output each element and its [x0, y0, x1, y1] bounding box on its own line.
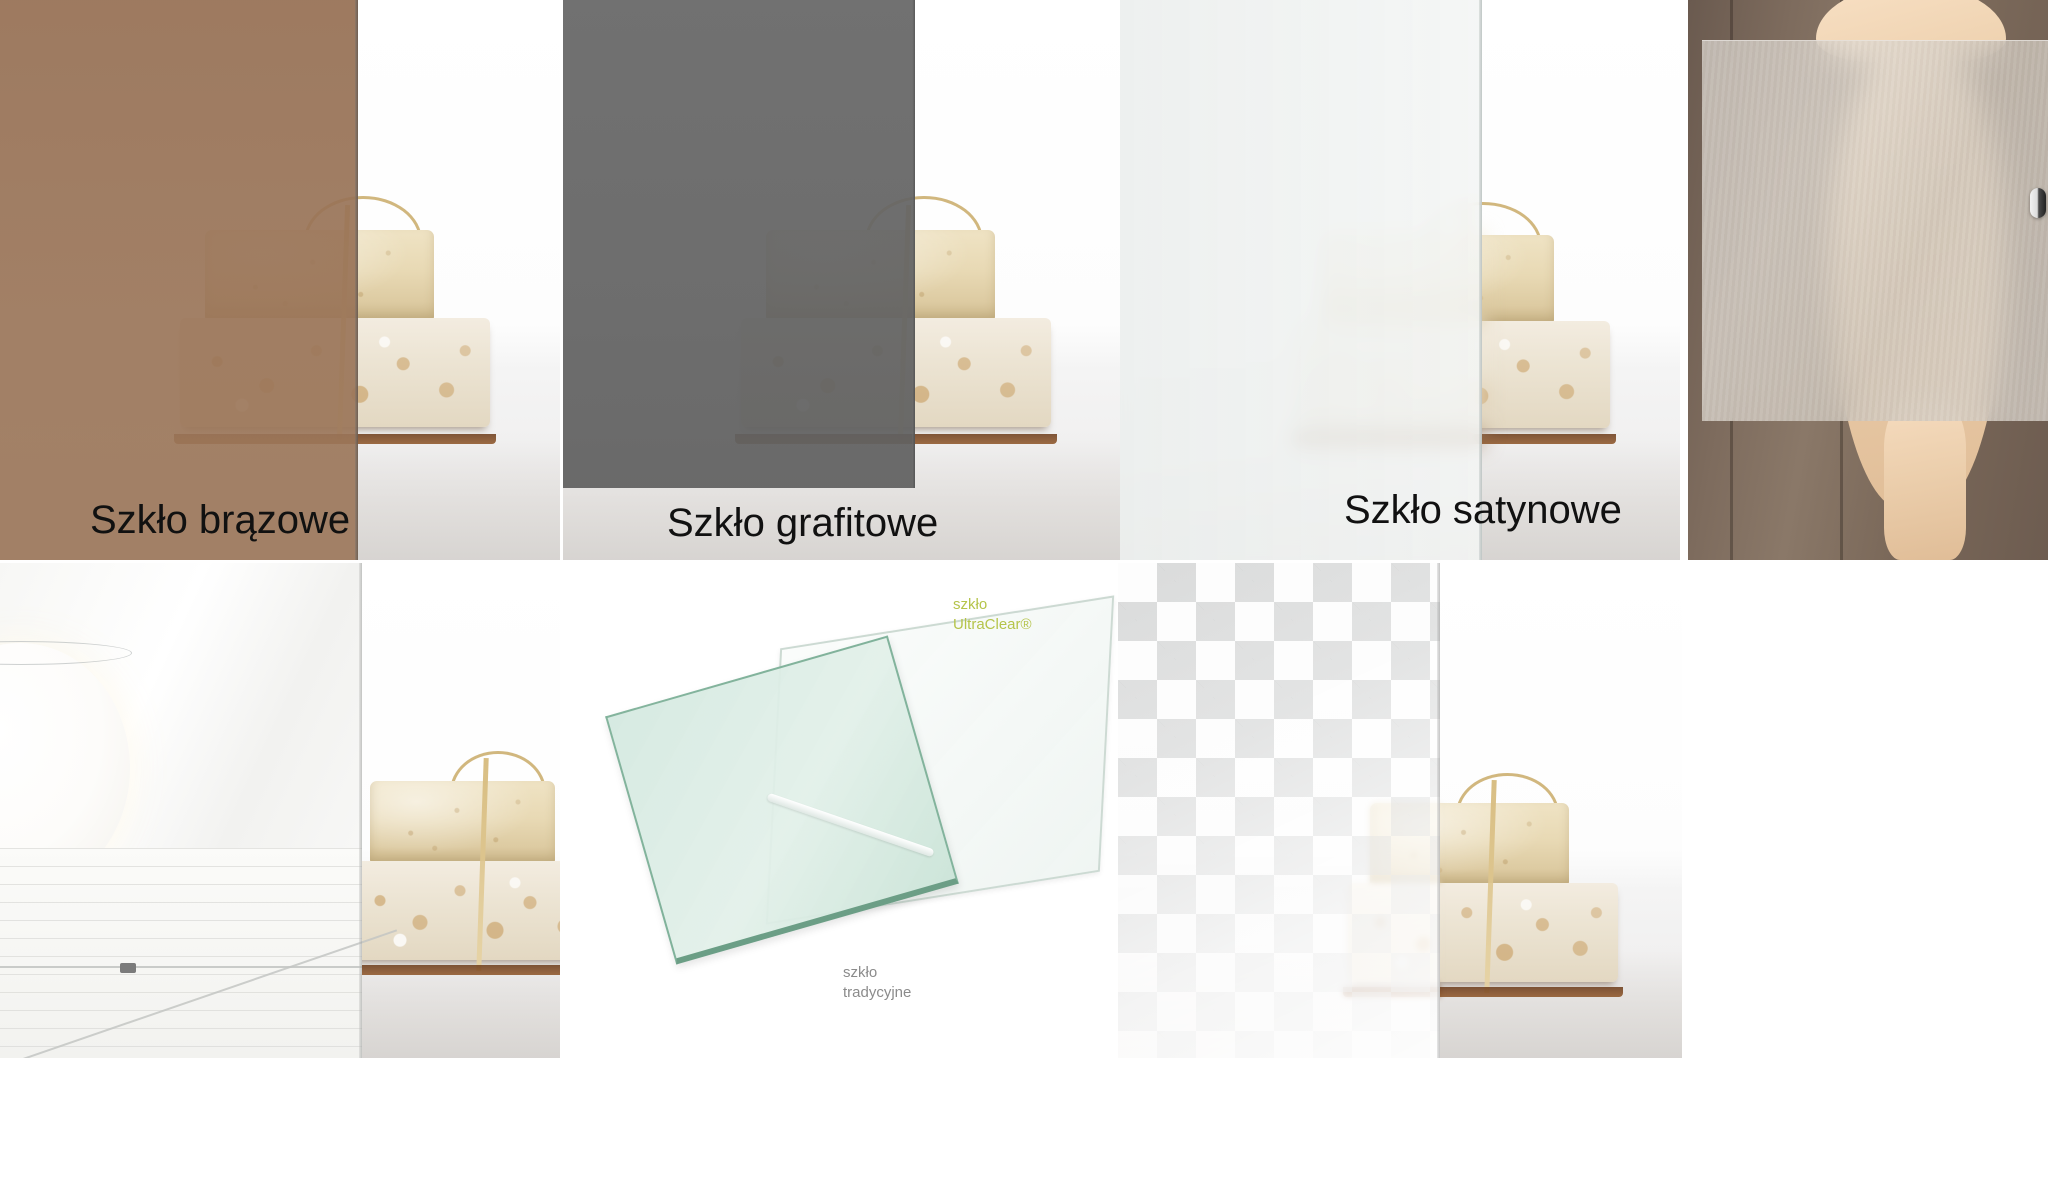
photo-grafitowe: [563, 0, 1120, 560]
caption-brazowe: Szkło brązowe: [90, 500, 350, 540]
glass-edge: [1437, 563, 1440, 1058]
tile-szklo-grafitowe[interactable]: Szkło grafitowe: [563, 0, 1120, 560]
photo-satynowe: [1120, 0, 1680, 560]
graphite-glass-pane: [563, 0, 915, 488]
frosted-glass-panel: [1702, 40, 2048, 421]
shower-door-handle[interactable]: [2030, 188, 2046, 218]
caption-satynowe: Szkło satynowe: [1344, 490, 1622, 530]
mastersoft-glass-pane: [1118, 563, 1440, 1058]
brown-glass-pane: [0, 0, 358, 560]
glass-edge: [912, 0, 915, 488]
tile-szklo-ultraclear[interactable]: szkło UltraClear® szkło tradycyjne Szkło…: [563, 563, 1120, 1058]
reflected-floor-boards: [0, 848, 362, 1058]
satin-glass-pane: [1120, 0, 1482, 560]
tile-szklo-intimato[interactable]: Szkło intimato: [1688, 0, 2048, 560]
reflected-small-object: [120, 963, 136, 973]
tile-szklo-mirror[interactable]: Szkło mirror (lustrzane): [0, 563, 560, 1058]
glass-edge: [355, 0, 358, 560]
figure-leg: [1884, 400, 1966, 560]
tile-szklo-mastersoft[interactable]: Szkło MasterSoft: [1118, 563, 1682, 1058]
glass-edge: [1479, 0, 1482, 560]
reflected-lamp-rim: [0, 641, 132, 665]
soap-bar-bottom: [350, 861, 560, 960]
photo-mirror: [0, 563, 560, 1058]
label-ultraclear: szkło UltraClear®: [953, 595, 1032, 636]
photo-brazowe: [0, 0, 560, 560]
soap-shadow-line: [345, 965, 560, 975]
soap-stack: [350, 781, 560, 971]
glass-edge: [359, 563, 362, 1058]
photo-mastersoft: [1118, 563, 1682, 1058]
label-tradycyjne: szkło tradycyjne: [843, 963, 911, 1004]
pattern-fade: [1118, 563, 1440, 1058]
photo-ultraclear: szkło UltraClear® szkło tradycyjne: [563, 563, 1120, 1058]
caption-grafitowe: Szkło grafitowe: [667, 503, 938, 543]
photo-intimato: [1688, 0, 2048, 560]
soap-bar-top: [370, 781, 555, 865]
tile-szklo-satynowe[interactable]: Szkło satynowe: [1120, 0, 1680, 560]
reflected-floor-edge: [0, 966, 362, 968]
tile-szklo-brazowe[interactable]: Szkło brązowe: [0, 0, 560, 560]
mirror-glass-pane: [0, 563, 362, 1058]
glass-types-grid: Szkło brązowe Szkło grafitowe: [0, 0, 2048, 1204]
